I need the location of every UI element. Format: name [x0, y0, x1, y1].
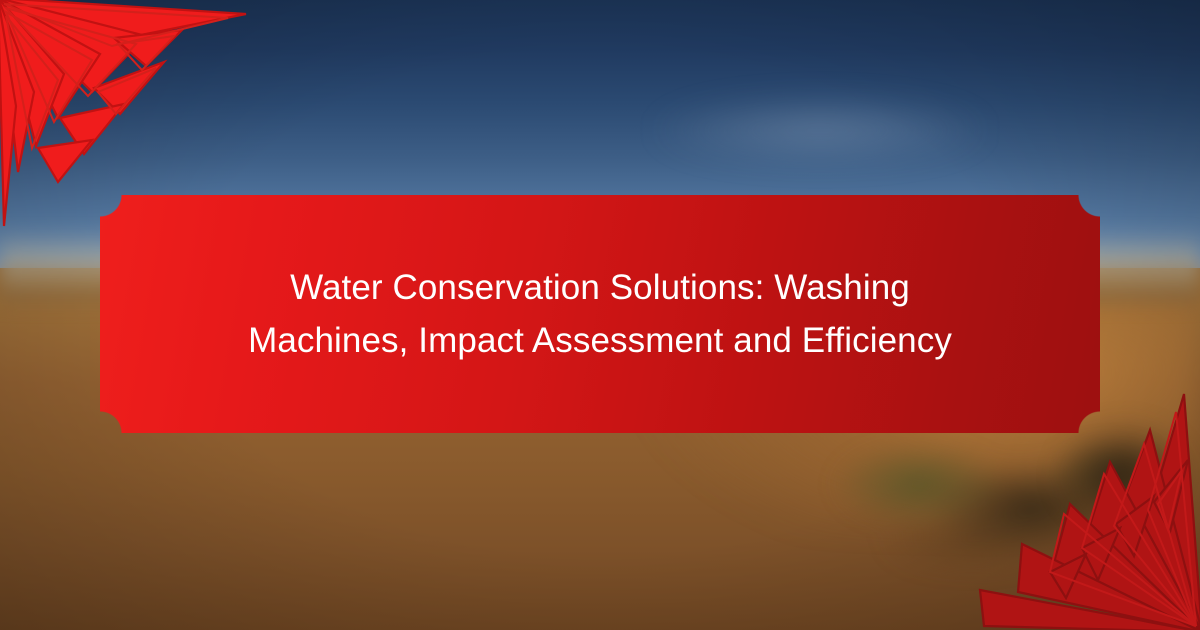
page-title: Water Conservation Solutions: Washing Ma…: [196, 261, 1004, 367]
share-card-canvas: Water Conservation Solutions: Washing Ma…: [0, 0, 1200, 630]
title-banner: Water Conservation Solutions: Washing Ma…: [100, 195, 1100, 433]
